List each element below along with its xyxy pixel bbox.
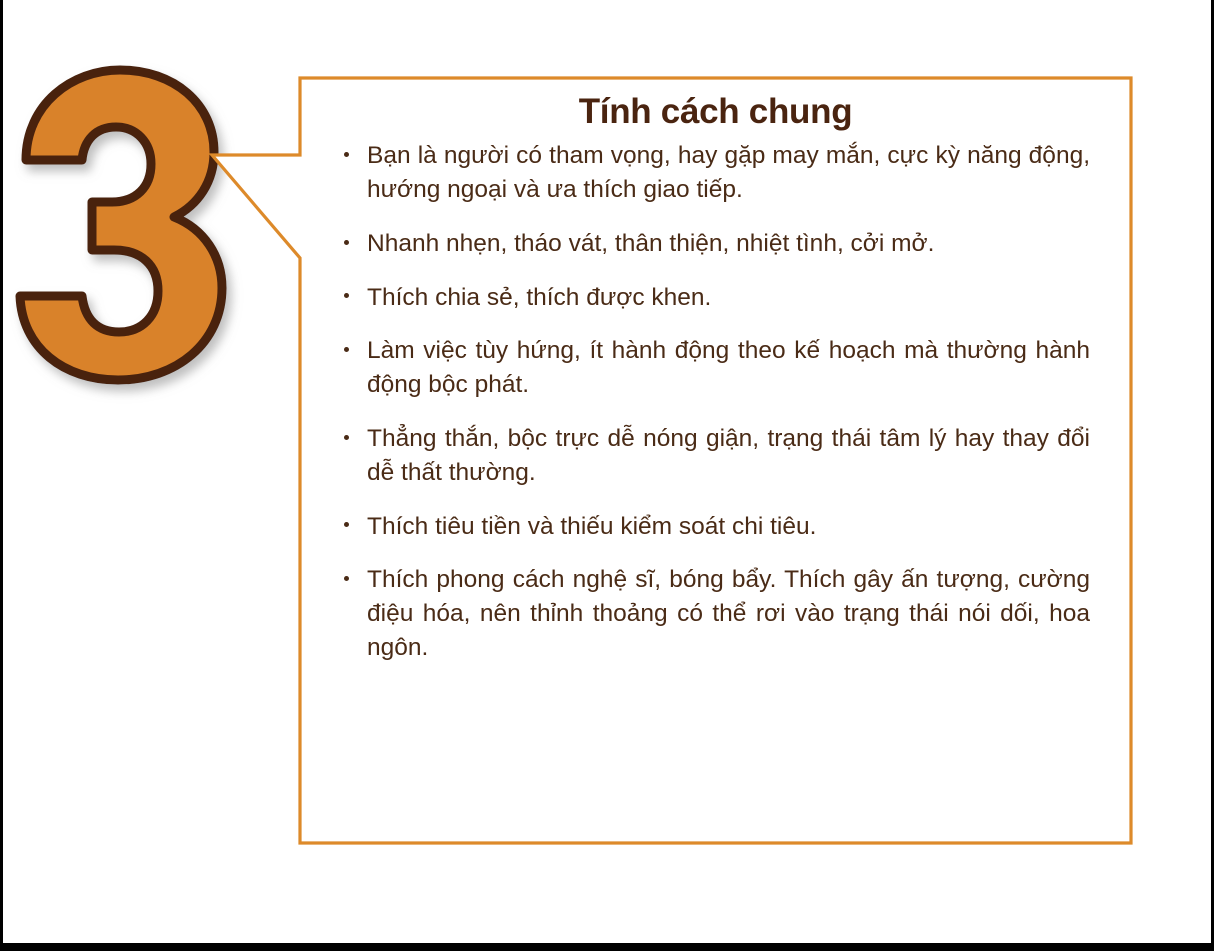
bullet-text: Thích tiêu tiền và thiếu kiểm soát chi t…	[367, 510, 1090, 544]
bullet-dot-icon	[344, 152, 349, 157]
personality-bullet-list: Bạn là người có tham vọng, hay gặp may m…	[341, 139, 1090, 665]
bullet-item-6: Thích tiêu tiền và thiếu kiểm soát chi t…	[341, 510, 1090, 544]
bullet-dot-icon	[344, 293, 349, 298]
bullet-text: Làm việc tùy hứng, ít hành động theo kế …	[367, 334, 1090, 402]
bullet-text: Thích chia sẻ, thích được khen.	[367, 281, 1090, 315]
bullet-dot-icon	[344, 435, 349, 440]
callout-title: Tính cách chung	[341, 92, 1090, 131]
frame-border-bottom	[0, 943, 1214, 951]
bullet-text: Thích phong cách nghệ sĩ, bóng bẩy. Thíc…	[367, 563, 1090, 664]
bullet-item-1: Bạn là người có tham vọng, hay gặp may m…	[341, 139, 1090, 207]
bullet-dot-icon	[344, 347, 349, 352]
frame-border-left	[0, 0, 3, 951]
numeral-three-shape	[20, 70, 222, 380]
bullet-item-4: Làm việc tùy hứng, ít hành động theo kế …	[341, 334, 1090, 402]
bullet-dot-icon	[344, 240, 349, 245]
bullet-item-3: Thích chia sẻ, thích được khen.	[341, 281, 1090, 315]
bullet-dot-icon	[344, 576, 349, 581]
bullet-item-7: Thích phong cách nghệ sĩ, bóng bẩy. Thíc…	[341, 563, 1090, 664]
bullet-text: Bạn là người có tham vọng, hay gặp may m…	[367, 139, 1090, 207]
bullet-dot-icon	[344, 522, 349, 527]
bullet-item-2: Nhanh nhẹn, tháo vát, thân thiện, nhiệt …	[341, 227, 1090, 261]
bullet-text: Thẳng thắn, bộc trực dễ nóng giận, trạng…	[367, 422, 1090, 490]
bullet-text: Nhanh nhẹn, tháo vát, thân thiện, nhiệt …	[367, 227, 1090, 261]
bullet-item-5: Thẳng thắn, bộc trực dễ nóng giận, trạng…	[341, 422, 1090, 490]
slide-canvas: 3 Tính cách chung Bạn là người có tham v…	[0, 0, 1214, 951]
